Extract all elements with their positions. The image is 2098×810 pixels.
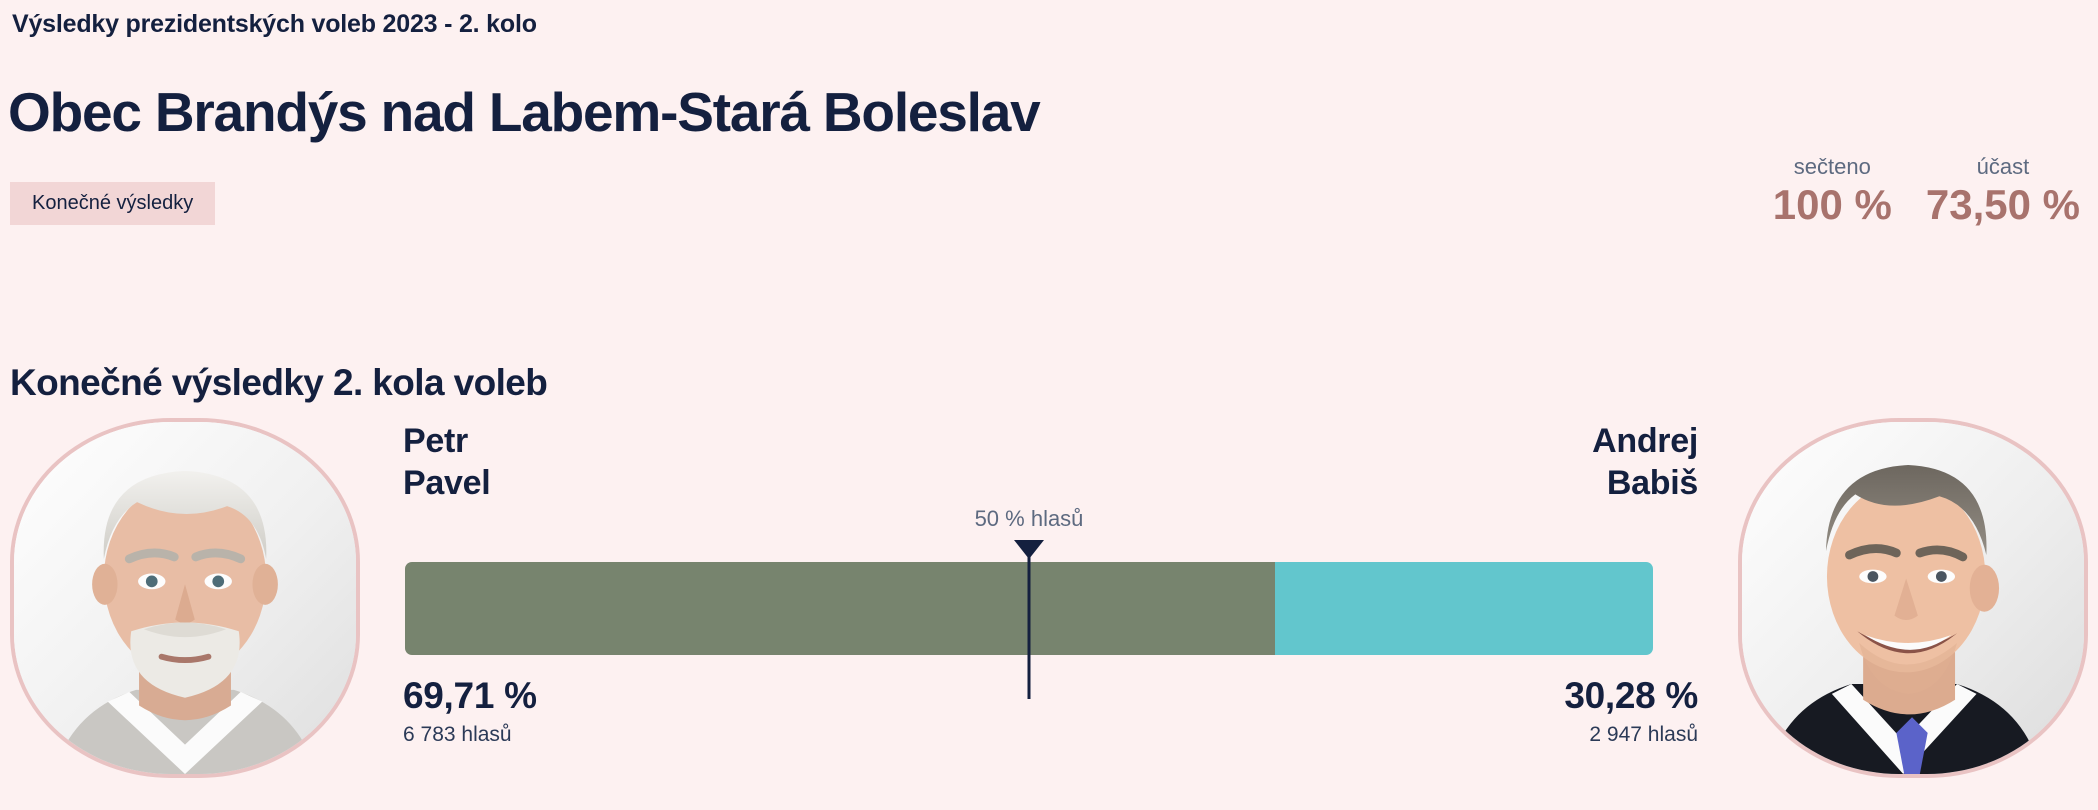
candidate-percent-right: 30,28 % [1564, 674, 1698, 718]
candidate-percent-left: 69,71 % [403, 674, 537, 718]
candidate-name-left: Petr Pavel [403, 420, 490, 504]
stat-turnout-value: 73,50 % [1926, 181, 2080, 229]
portrait-andrej-babis-icon [1742, 422, 2084, 774]
results-bar: 50 % hlasů [405, 562, 1653, 655]
fifty-percent-line [1028, 542, 1031, 699]
fifty-percent-label: 50 % hlasů [975, 506, 1084, 532]
page-title: Obec Brandýs nad Labem-Stará Boleslav [8, 81, 1040, 143]
portrait-petr-pavel-icon [14, 422, 356, 774]
stat-turnout: účast 73,50 % [1926, 155, 2080, 229]
runoff-duel-board: Petr Pavel Andrej Babiš 50 % hlasů 69,71… [0, 408, 2098, 808]
candidate-votes-left: 6 783 hlasů [403, 722, 537, 748]
candidate-name-right: Andrej Babiš [1592, 420, 1698, 504]
election-results-page: Výsledky prezidentských voleb 2023 - 2. … [0, 0, 2098, 810]
header-stats: sečteno 100 % účast 73,50 % [1773, 155, 2080, 229]
results-bar-segment-left [405, 562, 1275, 655]
candidate-result-left: 69,71 % 6 783 hlasů [403, 674, 537, 748]
stat-counted: sečteno 100 % [1773, 155, 1892, 229]
results-bar-segment-right [1275, 562, 1653, 655]
candidate-photo-left [10, 418, 360, 778]
candidate-result-right: 30,28 % 2 947 hlasů [1564, 674, 1698, 748]
candidate-votes-right: 2 947 hlasů [1564, 722, 1698, 748]
page-kicker: Výsledky prezidentských voleb 2023 - 2. … [12, 10, 537, 39]
stat-counted-value: 100 % [1773, 181, 1892, 229]
stat-turnout-label: účast [1977, 155, 2030, 179]
candidate-photo-right [1738, 418, 2088, 778]
status-badge: Konečné výsledky [10, 182, 215, 225]
section-title: Konečné výsledky 2. kola voleb [10, 361, 547, 405]
stat-counted-label: sečteno [1794, 155, 1871, 179]
